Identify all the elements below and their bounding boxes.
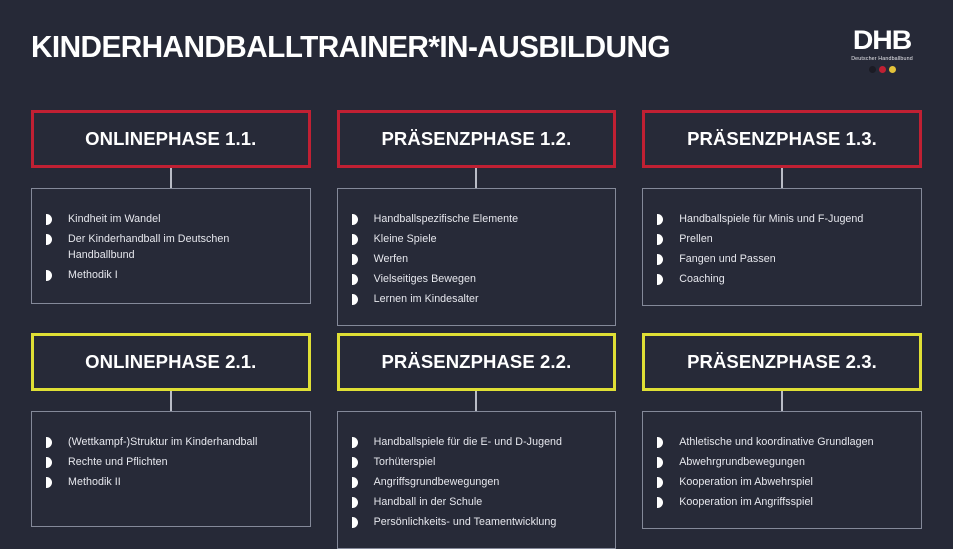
bullet-marker-icon <box>46 477 52 488</box>
list-item-label: Kooperation im Angriffsspiel <box>679 494 813 510</box>
list-item-label: Torhüterspiel <box>374 454 436 470</box>
page-title: KINDERHANDBALLTRAINER*IN-AUSBILDUNG <box>31 29 670 65</box>
list-item-label: Persönlichkeits- und Teamentwicklung <box>374 514 557 530</box>
card-praesenzphase-1-2-connector-line <box>475 168 477 188</box>
list-item: Werfen <box>352 251 602 267</box>
list-item: Persönlichkeits- und Teamentwicklung <box>352 514 602 530</box>
card-praesenzphase-1-2-header[interactable]: PRÄSENZPHASE 1.2. <box>337 110 617 168</box>
dhb-logo-dots <box>839 66 925 73</box>
card-onlinephase-1-1-title: ONLINEPHASE 1.1. <box>85 129 256 149</box>
list-item: Vielseitiges Bewegen <box>352 271 602 287</box>
card-praesenzphase-2-3[interactable]: PRÄSENZPHASE 2.3.Athletische und koordin… <box>642 333 922 549</box>
list-item: Fangen und Passen <box>657 251 907 267</box>
logo-dot-black <box>869 66 876 73</box>
bullet-marker-icon <box>46 214 52 225</box>
row-phase-2: ONLINEPHASE 2.1.(Wettkampf-)Struktur im … <box>31 333 922 549</box>
bullet-marker-icon <box>352 497 358 508</box>
card-onlinephase-2-1-connector-line <box>170 391 172 411</box>
card-praesenzphase-2-2-connector-line <box>475 391 477 411</box>
list-item-label: Angriffsgrundbewegungen <box>374 474 500 490</box>
card-onlinephase-1-1-connector-line <box>170 168 172 188</box>
list-item-label: Abwehrgrundbewegungen <box>679 454 805 470</box>
phase-grid: ONLINEPHASE 1.1.Kindheit im WandelDer Ki… <box>0 92 953 535</box>
slide-root: { "header": { "title": "KINDERHANDBALLTR… <box>0 0 953 535</box>
bullet-marker-icon <box>352 254 358 265</box>
card-praesenzphase-2-3-topic-list: Athletische und koordinative GrundlagenA… <box>657 434 907 510</box>
list-item-label: Methodik II <box>68 474 121 490</box>
list-item: Abwehrgrundbewegungen <box>657 454 907 470</box>
card-praesenzphase-1-2-body: Handballspezifische ElementeKleine Spiel… <box>337 188 617 326</box>
list-item-label: Lernen im Kindesalter <box>374 291 479 307</box>
card-praesenzphase-2-3-body: Athletische und koordinative GrundlagenA… <box>642 411 922 529</box>
list-item-label: Der Kinderhandball im Deutschen Handball… <box>68 231 296 263</box>
list-item-label: Rechte und Pflichten <box>68 454 168 470</box>
card-praesenzphase-1-2[interactable]: PRÄSENZPHASE 1.2.Handballspezifische Ele… <box>337 110 617 326</box>
logo-dot-red <box>879 66 886 73</box>
list-item: (Wettkampf-)Struktur im Kinderhandball <box>46 434 296 450</box>
list-item: Der Kinderhandball im Deutschen Handball… <box>46 231 296 263</box>
card-praesenzphase-1-2-title: PRÄSENZPHASE 1.2. <box>381 129 571 149</box>
bullet-marker-icon <box>657 477 663 488</box>
card-praesenzphase-1-3-title: PRÄSENZPHASE 1.3. <box>687 129 877 149</box>
list-item-label: Vielseitiges Bewegen <box>374 271 476 287</box>
bullet-marker-icon <box>352 517 358 528</box>
list-item: Kleine Spiele <box>352 231 602 247</box>
bullet-marker-icon <box>352 457 358 468</box>
list-item-label: Coaching <box>679 271 725 287</box>
card-praesenzphase-1-3[interactable]: PRÄSENZPHASE 1.3.Handballspiele für Mini… <box>642 110 922 326</box>
card-onlinephase-1-1-body: Kindheit im WandelDer Kinderhandball im … <box>31 188 311 304</box>
list-item-label: Werfen <box>374 251 409 267</box>
list-item-label: Athletische und koordinative Grundlagen <box>679 434 873 450</box>
card-onlinephase-2-1-topic-list: (Wettkampf-)Struktur im KinderhandballRe… <box>46 434 296 490</box>
card-praesenzphase-2-2-topic-list: Handballspiele für die E- und D-JugendTo… <box>352 434 602 530</box>
list-item: Handballspiele für Minis und F-Jugend <box>657 211 907 227</box>
list-item-label: Methodik I <box>68 267 118 283</box>
dhb-logo-subtitle: Deutscher Handballbund <box>839 55 925 63</box>
bullet-marker-icon <box>657 254 663 265</box>
card-praesenzphase-2-2-header[interactable]: PRÄSENZPHASE 2.2. <box>337 333 617 391</box>
list-item-label: Kleine Spiele <box>374 231 437 247</box>
bullet-marker-icon <box>352 437 358 448</box>
dhb-logo: DHB Deutscher Handballbund <box>839 26 925 88</box>
card-onlinephase-2-1-title: ONLINEPHASE 2.1. <box>85 352 256 372</box>
list-item-label: Handballspezifische Elemente <box>374 211 519 227</box>
list-item: Kindheit im Wandel <box>46 211 296 227</box>
list-item: Methodik II <box>46 474 296 490</box>
card-onlinephase-1-1[interactable]: ONLINEPHASE 1.1.Kindheit im WandelDer Ki… <box>31 110 311 326</box>
card-onlinephase-2-1[interactable]: ONLINEPHASE 2.1.(Wettkampf-)Struktur im … <box>31 333 311 549</box>
card-praesenzphase-2-3-title: PRÄSENZPHASE 2.3. <box>687 352 877 372</box>
card-praesenzphase-1-3-header[interactable]: PRÄSENZPHASE 1.3. <box>642 110 922 168</box>
card-praesenzphase-1-3-body: Handballspiele für Minis und F-JugendPre… <box>642 188 922 306</box>
list-item-label: (Wettkampf-)Struktur im Kinderhandball <box>68 434 257 450</box>
list-item: Handball in der Schule <box>352 494 602 510</box>
card-praesenzphase-2-3-header[interactable]: PRÄSENZPHASE 2.3. <box>642 333 922 391</box>
bullet-marker-icon <box>657 457 663 468</box>
bullet-marker-icon <box>352 274 358 285</box>
list-item-label: Handball in der Schule <box>374 494 483 510</box>
card-praesenzphase-2-2-title: PRÄSENZPHASE 2.2. <box>381 352 571 372</box>
bullet-marker-icon <box>352 214 358 225</box>
card-praesenzphase-2-2[interactable]: PRÄSENZPHASE 2.2.Handballspiele für die … <box>337 333 617 549</box>
bullet-marker-icon <box>352 477 358 488</box>
list-item-label: Fangen und Passen <box>679 251 776 267</box>
list-item: Torhüterspiel <box>352 454 602 470</box>
page-header: KINDERHANDBALLTRAINER*IN-AUSBILDUNG DHB … <box>0 0 953 92</box>
dhb-logo-wordmark: DHB <box>837 26 927 55</box>
bullet-marker-icon <box>657 437 663 448</box>
card-praesenzphase-2-3-connector-line <box>781 391 783 411</box>
list-item: Handballspiele für die E- und D-Jugend <box>352 434 602 450</box>
list-item-label: Handballspiele für die E- und D-Jugend <box>374 434 562 450</box>
list-item-label: Prellen <box>679 231 713 247</box>
bullet-marker-icon <box>657 274 663 285</box>
list-item-label: Kooperation im Abwehrspiel <box>679 474 813 490</box>
list-item: Lernen im Kindesalter <box>352 291 602 307</box>
logo-dot-yellow <box>889 66 896 73</box>
row-phase-1: ONLINEPHASE 1.1.Kindheit im WandelDer Ki… <box>31 110 922 326</box>
bullet-marker-icon <box>352 234 358 245</box>
bullet-marker-icon <box>657 497 663 508</box>
bullet-marker-icon <box>46 234 52 245</box>
card-praesenzphase-1-3-topic-list: Handballspiele für Minis und F-JugendPre… <box>657 211 907 287</box>
bullet-marker-icon <box>657 214 663 225</box>
card-onlinephase-1-1-header[interactable]: ONLINEPHASE 1.1. <box>31 110 311 168</box>
list-item: Kooperation im Abwehrspiel <box>657 474 907 490</box>
list-item-label: Kindheit im Wandel <box>68 211 161 227</box>
list-item: Coaching <box>657 271 907 287</box>
list-item: Methodik I <box>46 267 296 283</box>
card-praesenzphase-1-2-topic-list: Handballspezifische ElementeKleine Spiel… <box>352 211 602 307</box>
bullet-marker-icon <box>657 234 663 245</box>
list-item: Prellen <box>657 231 907 247</box>
card-onlinephase-2-1-body: (Wettkampf-)Struktur im KinderhandballRe… <box>31 411 311 527</box>
list-item: Rechte und Pflichten <box>46 454 296 470</box>
card-onlinephase-2-1-header[interactable]: ONLINEPHASE 2.1. <box>31 333 311 391</box>
list-item: Angriffsgrundbewegungen <box>352 474 602 490</box>
card-onlinephase-1-1-topic-list: Kindheit im WandelDer Kinderhandball im … <box>46 211 296 283</box>
bullet-marker-icon <box>46 457 52 468</box>
card-praesenzphase-1-3-connector-line <box>781 168 783 188</box>
list-item-label: Handballspiele für Minis und F-Jugend <box>679 211 863 227</box>
bullet-marker-icon <box>46 270 52 281</box>
card-praesenzphase-2-2-body: Handballspiele für die E- und D-JugendTo… <box>337 411 617 549</box>
list-item: Kooperation im Angriffsspiel <box>657 494 907 510</box>
bullet-marker-icon <box>46 437 52 448</box>
list-item: Handballspezifische Elemente <box>352 211 602 227</box>
list-item: Athletische und koordinative Grundlagen <box>657 434 907 450</box>
bullet-marker-icon <box>352 294 358 305</box>
